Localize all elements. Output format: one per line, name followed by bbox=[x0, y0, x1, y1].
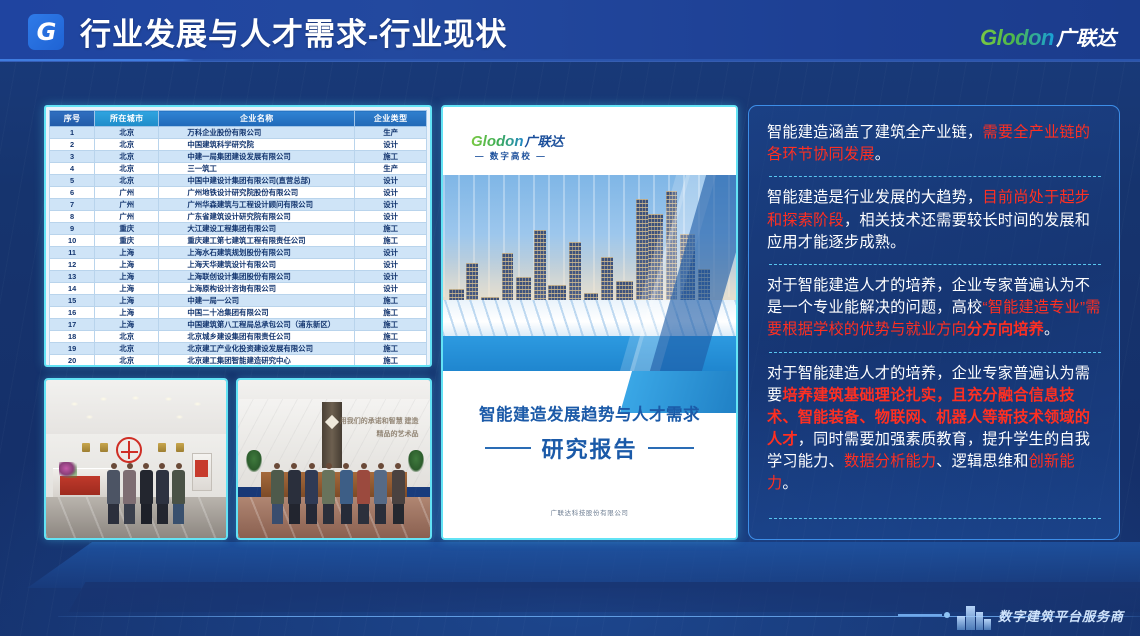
table-row: 5北京中国中建设计集团有限公司(直营总部)设计 bbox=[50, 175, 427, 187]
cover-brand-en: Glodon bbox=[471, 133, 524, 150]
cell-city: 北京 bbox=[95, 163, 159, 175]
cell-type: 施工 bbox=[355, 331, 427, 343]
paragraph-divider bbox=[769, 176, 1101, 177]
glodon-g-icon: G bbox=[28, 14, 64, 50]
table-row: 18北京北京城乡建设集团有限责任公司施工 bbox=[50, 331, 427, 343]
cell-no: 9 bbox=[50, 223, 95, 235]
ceiling-light bbox=[86, 415, 93, 419]
person bbox=[172, 463, 185, 524]
text-segment: 智能建造涵盖了建筑全产业链， bbox=[767, 124, 982, 141]
cell-name: 中建一局集团建设发展有限公司 bbox=[159, 151, 355, 163]
cover-sub-brand: — 数字高校 — bbox=[475, 150, 547, 162]
cell-no: 21 bbox=[50, 367, 95, 368]
cell-city: 北京 bbox=[95, 139, 159, 151]
brand-name-cn: 广联达 bbox=[1056, 22, 1116, 51]
cell-type: 设计 bbox=[355, 247, 427, 259]
footer-dot bbox=[944, 612, 950, 618]
footer-line bbox=[898, 614, 942, 616]
table-row: 6广州广州地铁设计研究院股份有限公司设计 bbox=[50, 187, 427, 199]
cell-city: 上海 bbox=[95, 271, 159, 283]
cell-no: 15 bbox=[50, 295, 95, 307]
cell-type: 设计 bbox=[355, 175, 427, 187]
page-title: 行业发展与人才需求-行业现状 bbox=[80, 9, 507, 54]
table-row: 20北京北京建工集团智能建造研究中心施工 bbox=[50, 355, 427, 367]
cell-no: 7 bbox=[50, 199, 95, 211]
glodon-g-glyph: G bbox=[37, 20, 56, 44]
cell-no: 14 bbox=[50, 283, 95, 295]
text-segment: 。 bbox=[875, 146, 890, 163]
cell-no: 11 bbox=[50, 247, 95, 259]
cell-name: 广州地铁设计研究院股份有限公司 bbox=[159, 187, 355, 199]
text-segment: 。 bbox=[782, 475, 797, 492]
lobby-scene-1 bbox=[46, 380, 226, 538]
header-underline bbox=[0, 59, 1140, 61]
person bbox=[322, 463, 335, 524]
cell-name: 中国中建设计集团有限公司(直营总部) bbox=[159, 175, 355, 187]
rule-left bbox=[485, 447, 531, 449]
cell-city: 北京 bbox=[95, 127, 159, 139]
table-row: 16上海中国二十冶集团有限公司施工 bbox=[50, 307, 427, 319]
person bbox=[357, 463, 370, 524]
cell-no: 10 bbox=[50, 235, 95, 247]
insight-paragraph: 智能建造涵盖了建筑全产业链，需要全产业链的各环节协同发展。 bbox=[767, 122, 1103, 166]
cell-type: 设计 bbox=[355, 199, 427, 211]
cell-no: 18 bbox=[50, 331, 95, 343]
person bbox=[305, 463, 318, 524]
column-header-type: 企业类型 bbox=[355, 111, 427, 127]
slide-root: G 行业发展与人才需求-行业现状 Glodon 广联达 序号 所在城市 企业名称… bbox=[0, 0, 1140, 636]
person bbox=[123, 463, 136, 524]
person bbox=[288, 463, 301, 524]
cover-report-label-wrap: 研究报告 bbox=[443, 432, 736, 464]
wall-badge bbox=[100, 443, 108, 452]
table-row: 14上海上海原构设计咨询有限公司设计 bbox=[50, 283, 427, 295]
table-row: 17上海中国建筑第八工程局总承包公司（浦东新区）施工 bbox=[50, 319, 427, 331]
cell-no: 8 bbox=[50, 211, 95, 223]
text-segment: 。 bbox=[1044, 321, 1059, 338]
cell-name: 上海联创设计集团股份有限公司 bbox=[159, 271, 355, 283]
table-row: 7广州广州华森建筑与工程设计顾问有限公司设计 bbox=[50, 199, 427, 211]
cell-type: 设计 bbox=[355, 187, 427, 199]
cell-name: 中国二十冶集团有限公司 bbox=[159, 307, 355, 319]
text-segment: 、逻辑思维和 bbox=[936, 453, 1028, 470]
cell-type: 施工 bbox=[355, 235, 427, 247]
text-segment: 智能建造是行业发展的大趋势， bbox=[767, 189, 982, 206]
paragraph-divider bbox=[769, 518, 1101, 519]
highlight-segment: 数据分析能力 bbox=[844, 453, 936, 470]
table-row: 3北京中建一局集团建设发展有限公司施工 bbox=[50, 151, 427, 163]
cell-type: 生产 bbox=[355, 127, 427, 139]
footer-tagline: 数字建筑平台服务商 bbox=[998, 606, 1124, 625]
cell-city: 广州 bbox=[95, 187, 159, 199]
enterprise-table: 序号 所在城市 企业名称 企业类型 1北京万科企业股份有限公司生产2北京中国建筑… bbox=[49, 110, 427, 367]
stage-plinth bbox=[0, 542, 1140, 588]
table-row: 9重庆大江建设工程集团有限公司施工 bbox=[50, 223, 427, 235]
company-emblem-icon bbox=[116, 437, 142, 463]
cell-no: 4 bbox=[50, 163, 95, 175]
cover-report-label: 研究报告 bbox=[541, 432, 637, 464]
cell-no: 16 bbox=[50, 307, 95, 319]
slide-header: G 行业发展与人才需求-行业现状 Glodon 广联达 bbox=[0, 0, 1140, 62]
cell-city: 广州 bbox=[95, 211, 159, 223]
cell-no: 19 bbox=[50, 343, 95, 355]
table-row: 4北京三一筑工生产 bbox=[50, 163, 427, 175]
footer-brand: 数字建筑平台服务商 bbox=[898, 600, 1124, 630]
cell-city: 重庆 bbox=[95, 223, 159, 235]
cell-name: 三一筑工 bbox=[159, 163, 355, 175]
cell-name: 上海天华建筑设计有限公司 bbox=[159, 259, 355, 271]
rule-right bbox=[648, 447, 694, 449]
cell-no: 6 bbox=[50, 187, 95, 199]
table-row: 21…………… bbox=[50, 367, 427, 368]
enterprise-table-card: 序号 所在城市 企业名称 企业类型 1北京万科企业股份有限公司生产2北京中国建筑… bbox=[44, 105, 432, 367]
person bbox=[271, 463, 284, 524]
cell-city: 北京 bbox=[95, 151, 159, 163]
cell-name: 中建一局一公司 bbox=[159, 295, 355, 307]
cell-type: 设计 bbox=[355, 283, 427, 295]
potted-plant bbox=[408, 450, 424, 472]
column-header-city: 所在城市 bbox=[95, 111, 159, 127]
wall-calligraphy: 用我们的承诺和智慧 建造精品的艺术品 bbox=[334, 415, 418, 456]
cell-name: 北京建工集团智能建造研究中心 bbox=[159, 355, 355, 367]
cell-name: 中国建筑第八工程局总承包公司（浦东新区） bbox=[159, 319, 355, 331]
table-header-row: 序号 所在城市 企业名称 企业类型 bbox=[50, 111, 427, 127]
cell-city: 北京 bbox=[95, 343, 159, 355]
cell-no: 17 bbox=[50, 319, 95, 331]
brand-logo: Glodon 广联达 bbox=[980, 22, 1116, 51]
table-row: 19北京北京建工产业化投资建设发展有限公司施工 bbox=[50, 343, 427, 355]
cell-city: 上海 bbox=[95, 295, 159, 307]
insight-paragraph: 对于智能建造人才的培养，企业专家普遍认为需要培养建筑基础理论扎实，且充分融合信息… bbox=[767, 363, 1103, 496]
cell-city: 北京 bbox=[95, 355, 159, 367]
cell-type: 施工 bbox=[355, 151, 427, 163]
cover-brand-logo: Glodon广联达 bbox=[471, 131, 564, 151]
table-body: 1北京万科企业股份有限公司生产2北京中国建筑科学研究院设计3北京中建一局集团建设… bbox=[50, 127, 427, 368]
cell-type: 施工 bbox=[355, 307, 427, 319]
person bbox=[340, 463, 353, 524]
ceiling-light bbox=[194, 402, 201, 406]
cell-city: 重庆 bbox=[95, 235, 159, 247]
reception-counter-panel bbox=[60, 476, 100, 495]
insights-panel: 智能建造涵盖了建筑全产业链，需要全产业链的各环节协同发展。智能建造是行业发展的大… bbox=[748, 105, 1120, 540]
brand-name-en: Glodon bbox=[980, 25, 1054, 51]
info-display bbox=[192, 453, 212, 491]
cell-city: 上海 bbox=[95, 307, 159, 319]
cell-city: 北京 bbox=[95, 331, 159, 343]
person bbox=[156, 463, 169, 524]
cell-no: 20 bbox=[50, 355, 95, 367]
lobby-scene-2: 用我们的承诺和智慧 建造精品的艺术品 bbox=[238, 380, 430, 538]
cell-name: 北京建工产业化投资建设发展有限公司 bbox=[159, 343, 355, 355]
cell-no: 2 bbox=[50, 139, 95, 151]
cell-type: 施工 bbox=[355, 319, 427, 331]
insight-paragraph: 对于智能建造人才的培养，企业专家普遍认为不是一个专业能解决的问题，高校“智能建造… bbox=[767, 275, 1103, 342]
table-row: 8广州广东省建筑设计研究院有限公司设计 bbox=[50, 211, 427, 223]
table-row: 12上海上海天华建筑设计有限公司设计 bbox=[50, 259, 427, 271]
ceiling bbox=[46, 380, 226, 434]
cover-brand-cn: 广联达 bbox=[525, 134, 564, 149]
person bbox=[374, 463, 387, 524]
survey-photo-1 bbox=[44, 378, 228, 540]
cover-corp-name: 广联达科技股份有限公司 bbox=[443, 507, 736, 517]
person bbox=[107, 463, 120, 524]
person bbox=[392, 463, 405, 524]
survey-photo-2: 用我们的承诺和智慧 建造精品的艺术品 bbox=[236, 378, 432, 540]
cell-type: 设计 bbox=[355, 271, 427, 283]
cell-no: 3 bbox=[50, 151, 95, 163]
cell-name: 上海原构设计咨询有限公司 bbox=[159, 283, 355, 295]
paragraph-divider bbox=[769, 264, 1101, 265]
cell-city: 广州 bbox=[95, 199, 159, 211]
cell-city: …… bbox=[95, 367, 159, 368]
cell-name: 北京城乡建设集团有限责任公司 bbox=[159, 331, 355, 343]
cell-no: 1 bbox=[50, 127, 95, 139]
cell-type: 施工 bbox=[355, 295, 427, 307]
wall-badge bbox=[176, 443, 184, 452]
table-row: 15上海中建一局一公司施工 bbox=[50, 295, 427, 307]
cell-type: 生产 bbox=[355, 163, 427, 175]
cover-hero-image bbox=[443, 175, 736, 371]
ceiling-light bbox=[176, 415, 183, 419]
insight-paragraph: 智能建造是行业发展的大趋势，目前尚处于起步和探索阶段，相关技术还需要较长时间的发… bbox=[767, 187, 1103, 254]
column-header-no: 序号 bbox=[50, 111, 95, 127]
cell-no: 12 bbox=[50, 259, 95, 271]
table-row: 2北京中国建筑科学研究院设计 bbox=[50, 139, 427, 151]
cell-type: … bbox=[355, 367, 427, 368]
highlight-segment: 分方向培养 bbox=[967, 321, 1044, 338]
flower-arrangement bbox=[59, 462, 77, 478]
cell-type: 施工 bbox=[355, 355, 427, 367]
wall-badge bbox=[82, 443, 90, 452]
person bbox=[140, 463, 153, 524]
cell-no: 13 bbox=[50, 271, 95, 283]
paragraph-divider bbox=[769, 352, 1101, 353]
cell-name: 广州华森建筑与工程设计顾问有限公司 bbox=[159, 199, 355, 211]
cell-type: 设计 bbox=[355, 211, 427, 223]
cell-no: 5 bbox=[50, 175, 95, 187]
report-cover-card: Glodon广联达 — 数字高校 — bbox=[441, 105, 738, 540]
table-row: 11上海上海水石建筑规划股份有限公司设计 bbox=[50, 247, 427, 259]
cell-name: 万科企业股份有限公司 bbox=[159, 127, 355, 139]
cell-name: 上海水石建筑规划股份有限公司 bbox=[159, 247, 355, 259]
cell-name: 大江建设工程集团有限公司 bbox=[159, 223, 355, 235]
wall-badge bbox=[158, 443, 166, 452]
cell-name: …… bbox=[159, 367, 355, 368]
table-head: 序号 所在城市 企业名称 企业类型 bbox=[50, 111, 427, 127]
cell-city: 上海 bbox=[95, 259, 159, 271]
cell-type: 设计 bbox=[355, 139, 427, 151]
cell-city: 上海 bbox=[95, 283, 159, 295]
highlight-segment: “智能建造专业” bbox=[982, 299, 1085, 316]
table-row: 1北京万科企业股份有限公司生产 bbox=[50, 127, 427, 139]
cell-city: 北京 bbox=[95, 175, 159, 187]
cell-name: 中国建筑科学研究院 bbox=[159, 139, 355, 151]
table-row: 10重庆重庆建工第七建筑工程有限责任公司施工 bbox=[50, 235, 427, 247]
cell-name: 广东省建筑设计研究院有限公司 bbox=[159, 211, 355, 223]
cell-type: 施工 bbox=[355, 343, 427, 355]
cell-name: 重庆建工第七建筑工程有限责任公司 bbox=[159, 235, 355, 247]
column-header-name: 企业名称 bbox=[159, 111, 355, 127]
building-icon bbox=[957, 600, 991, 630]
cell-city: 上海 bbox=[95, 247, 159, 259]
cell-type: 施工 bbox=[355, 223, 427, 235]
cell-type: 设计 bbox=[355, 259, 427, 271]
cell-city: 上海 bbox=[95, 319, 159, 331]
table-row: 13上海上海联创设计集团股份有限公司设计 bbox=[50, 271, 427, 283]
potted-plant bbox=[246, 450, 262, 472]
cover-title: 智能建造发展趋势与人才需求 bbox=[443, 401, 736, 425]
